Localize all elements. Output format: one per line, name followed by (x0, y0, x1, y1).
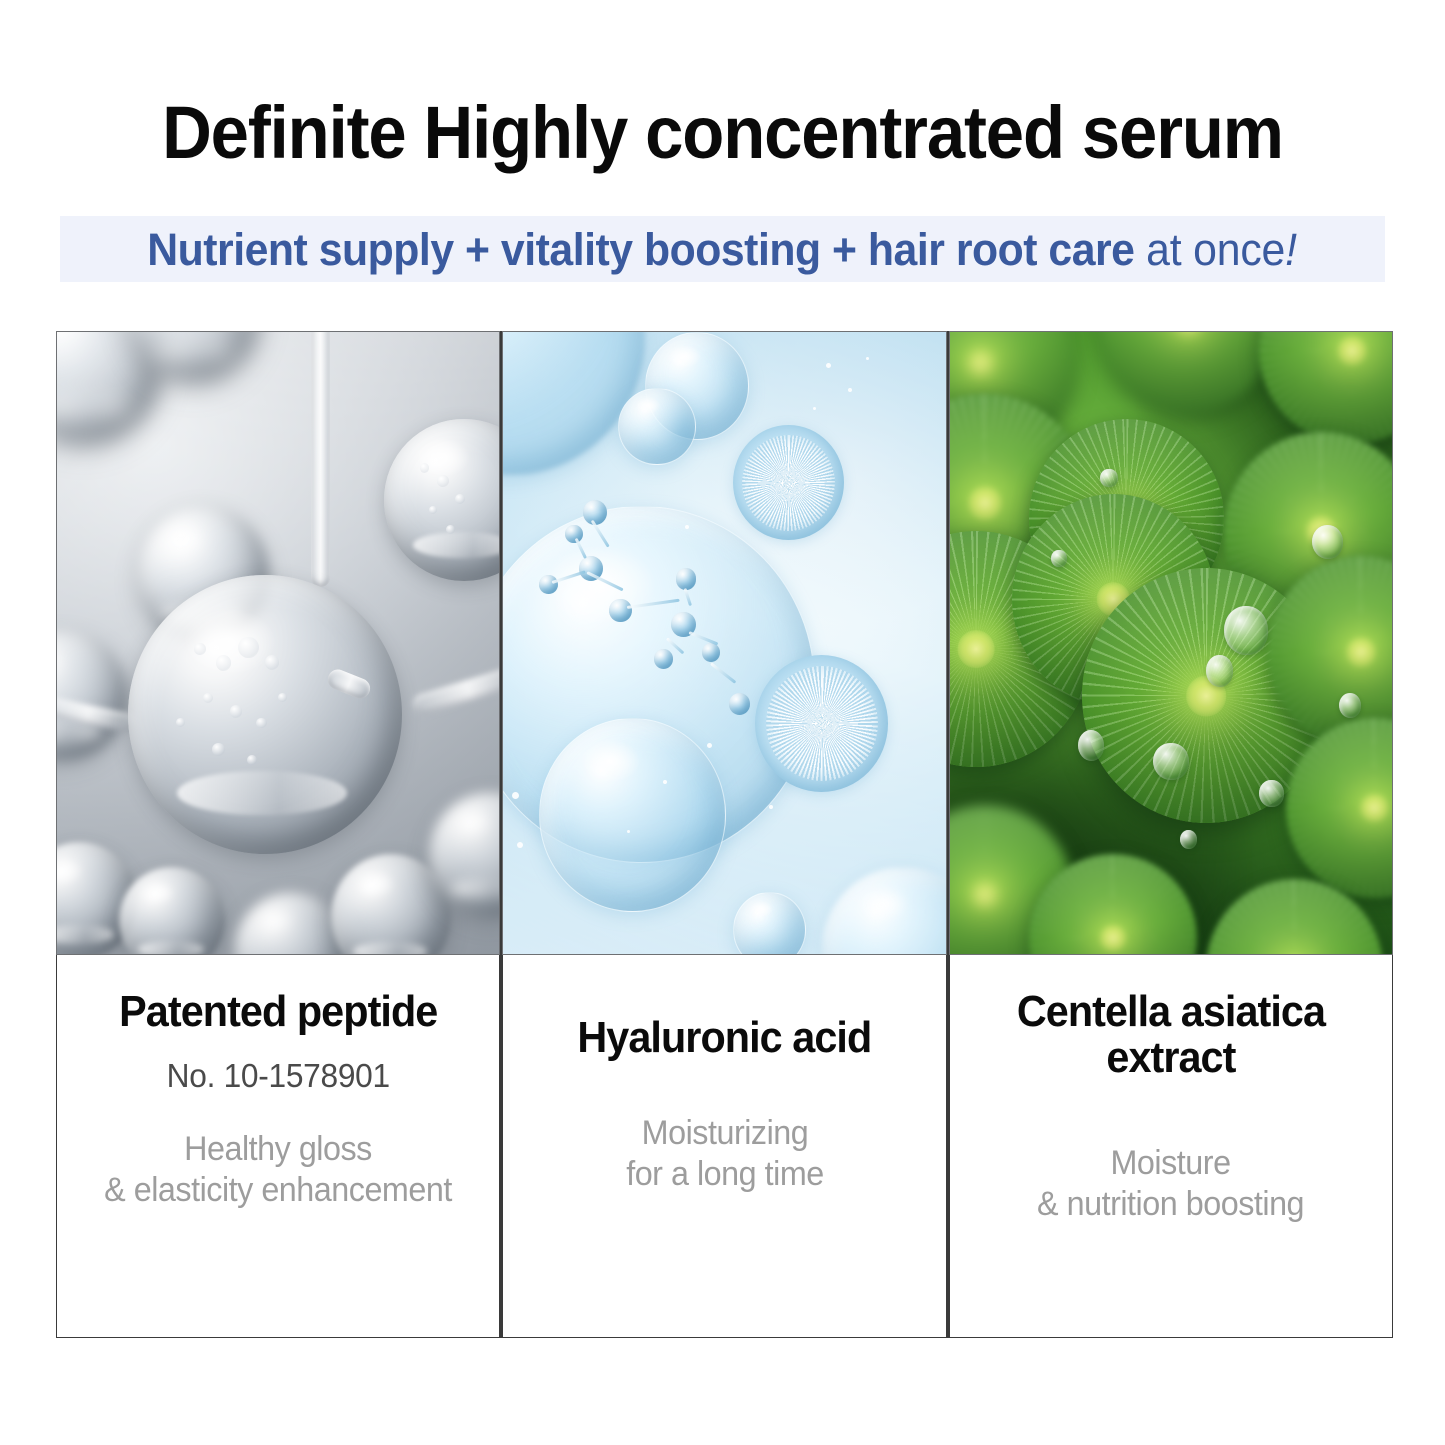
card-description: Moisture & nutrition boosting (1037, 1143, 1304, 1226)
subtitle-suffix: at once (1135, 224, 1286, 275)
card-title: Patented peptide (119, 989, 437, 1035)
card-description: Moisturizing for a long time (626, 1113, 824, 1196)
page-title: Definite Highly concentrated serum (51, 96, 1395, 170)
subtitle-benefits: Nutrient supply + vitality boosting + ha… (148, 224, 1135, 275)
card-patent-number: No. 10-1578901 (167, 1057, 390, 1095)
patented-peptide-molecule-photo (56, 331, 500, 955)
ingredient-card-patented-peptide: Patented peptide No. 10-1578901 Healthy … (56, 331, 500, 1338)
centella-asiatica-text: Centella asiatica extract Moisture & nut… (949, 955, 1393, 1338)
product-infographic: Definite Highly concentrated serum Nutri… (0, 0, 1445, 1445)
card-title: Centella asiatica extract (1017, 989, 1325, 1081)
patented-peptide-text: Patented peptide No. 10-1578901 Healthy … (56, 955, 500, 1338)
ingredient-card-grid: Patented peptide No. 10-1578901 Healthy … (56, 331, 1393, 1338)
subtitle-band: Nutrient supply + vitality boosting + ha… (60, 216, 1385, 282)
hyaluronic-acid-text: Hyaluronic acid Moisturizing for a long … (502, 955, 946, 1338)
hyaluronic-acid-bubbles-photo (502, 331, 946, 955)
ingredient-card-centella-asiatica: Centella asiatica extract Moisture & nut… (947, 331, 1393, 1338)
centella-asiatica-leaves-photo (949, 331, 1393, 955)
subtitle-text: Nutrient supply + vitality boosting + ha… (148, 227, 1298, 272)
card-title: Hyaluronic acid (578, 1015, 872, 1061)
ingredient-card-hyaluronic-acid: Hyaluronic acid Moisturizing for a long … (500, 331, 946, 1338)
subtitle-exclamation: ! (1285, 224, 1297, 275)
card-description: Healthy gloss & elasticity enhancement (104, 1129, 452, 1212)
